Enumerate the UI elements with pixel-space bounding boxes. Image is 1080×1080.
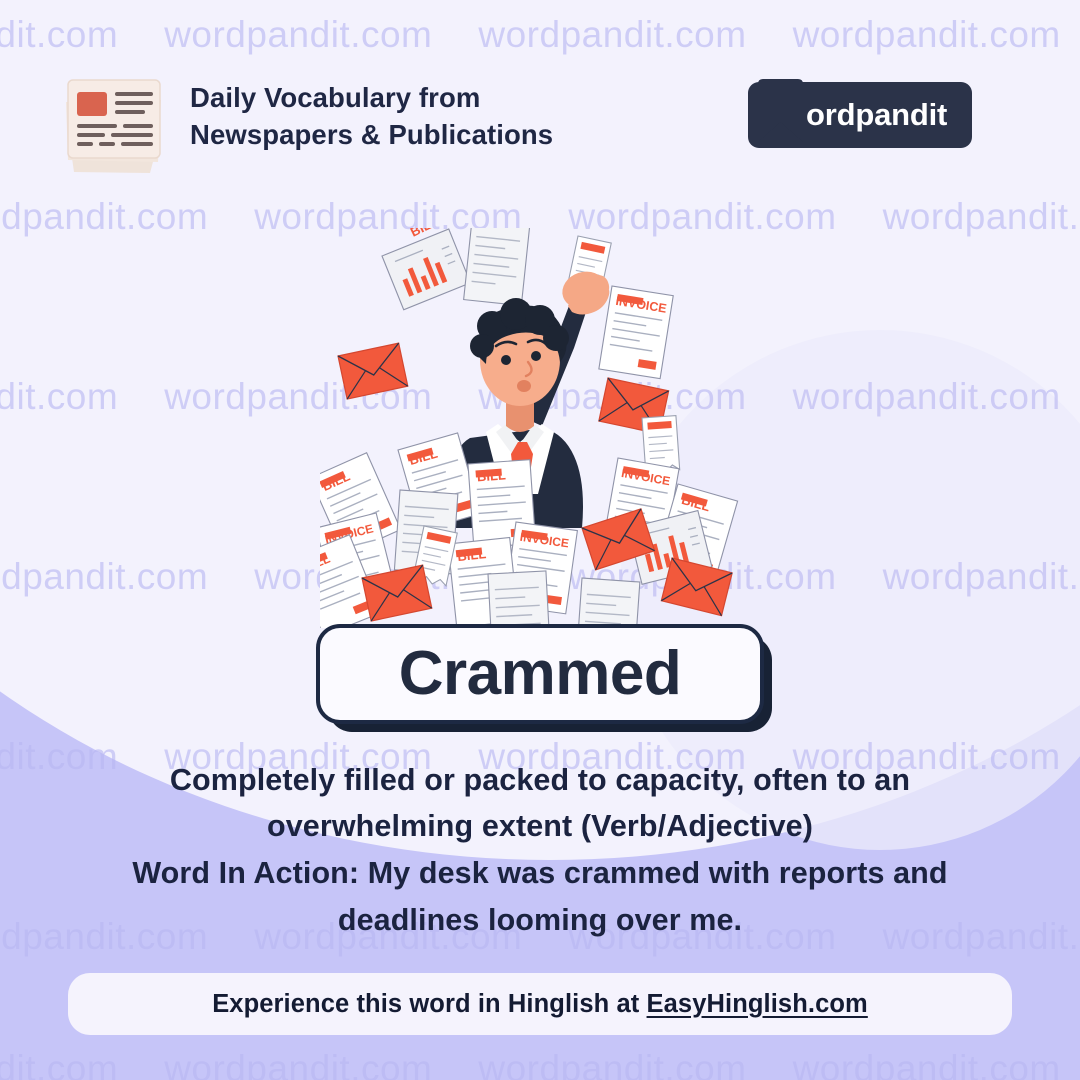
man-buried-in-paperwork-illustration: BILL INVOICE [320,228,740,628]
poster-canvas: wordpandit.comwordpandit.comwordpandit.c… [0,0,1080,1080]
vocabulary-word: Crammed [399,643,682,705]
svg-text:BILL: BILL [476,467,506,484]
hinglish-cta-prefix: Experience this word in Hinglish at [212,990,646,1018]
usage-line-1: Word In Action: My desk was crammed with… [30,850,1050,897]
logo-text: ordpandit [806,82,947,148]
svg-text:BILL: BILL [457,546,487,564]
definition-line-1: Completely filled or packed to capacity,… [40,758,1040,804]
definition-line-2: overwhelming extent (Verb/Adjective) [40,804,1040,850]
bookmark-icon [752,78,804,152]
usage-line-2: deadlines looming over me. [30,897,1050,944]
header-title-line2: Newspapers & Publications [190,117,553,154]
hinglish-cta-bar[interactable]: Experience this word in Hinglish at Easy… [68,973,1012,1035]
word-in-action: Word In Action: My desk was crammed with… [30,850,1050,945]
word-definition: Completely filled or packed to capacity,… [40,758,1040,850]
badge-plate: Crammed [316,624,764,724]
vocabulary-word-badge: Crammed [316,624,772,732]
wordpandit-logo[interactable]: ordpandit [748,82,972,148]
easyhinglish-link[interactable]: EasyHinglish.com [647,990,868,1018]
newspaper-icon [58,72,174,178]
header-title-line1: Daily Vocabulary from [190,80,553,117]
poster-header: Daily Vocabulary from Newspapers & Publi… [0,60,1080,170]
page-title: Daily Vocabulary from Newspapers & Publi… [190,80,553,153]
hinglish-cta-text: Experience this word in Hinglish at Easy… [212,990,868,1019]
